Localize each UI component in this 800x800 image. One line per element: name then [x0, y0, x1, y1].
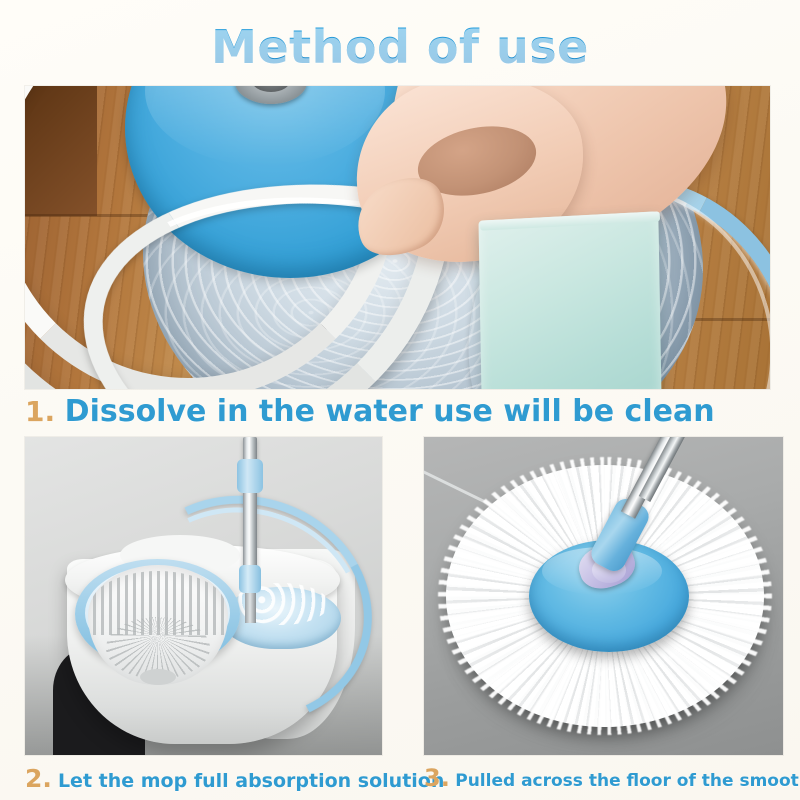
page-title: Method of use [0, 20, 800, 74]
mop-pole-collar-bottom [239, 565, 261, 593]
mop-pole-collar-top [237, 459, 263, 493]
step-1-photo [25, 86, 770, 389]
step-2-photo [25, 437, 382, 755]
dissolvable-cleaning-tablet [479, 211, 662, 389]
step-3-photo [424, 437, 783, 755]
step-2-number: 2. [25, 764, 52, 793]
step-2-caption-text: Let the mop full absorption solution [58, 770, 444, 792]
step-3-caption: 3. Pulled across the floor of the smooth… [424, 764, 800, 792]
step-2-caption: 2. Let the mop full absorption solution [25, 764, 444, 793]
infographic-page: Method of use [0, 0, 800, 800]
step-3-number: 3. [424, 764, 450, 792]
step-1-caption-text: Dissolve in the water use will be clean [65, 394, 715, 429]
step-3-caption-text: Pulled across the floor of the smooth as… [455, 771, 800, 791]
step-1-number: 1. [25, 395, 55, 428]
step-1-caption: 1. Dissolve in the water use will be cle… [25, 394, 715, 429]
